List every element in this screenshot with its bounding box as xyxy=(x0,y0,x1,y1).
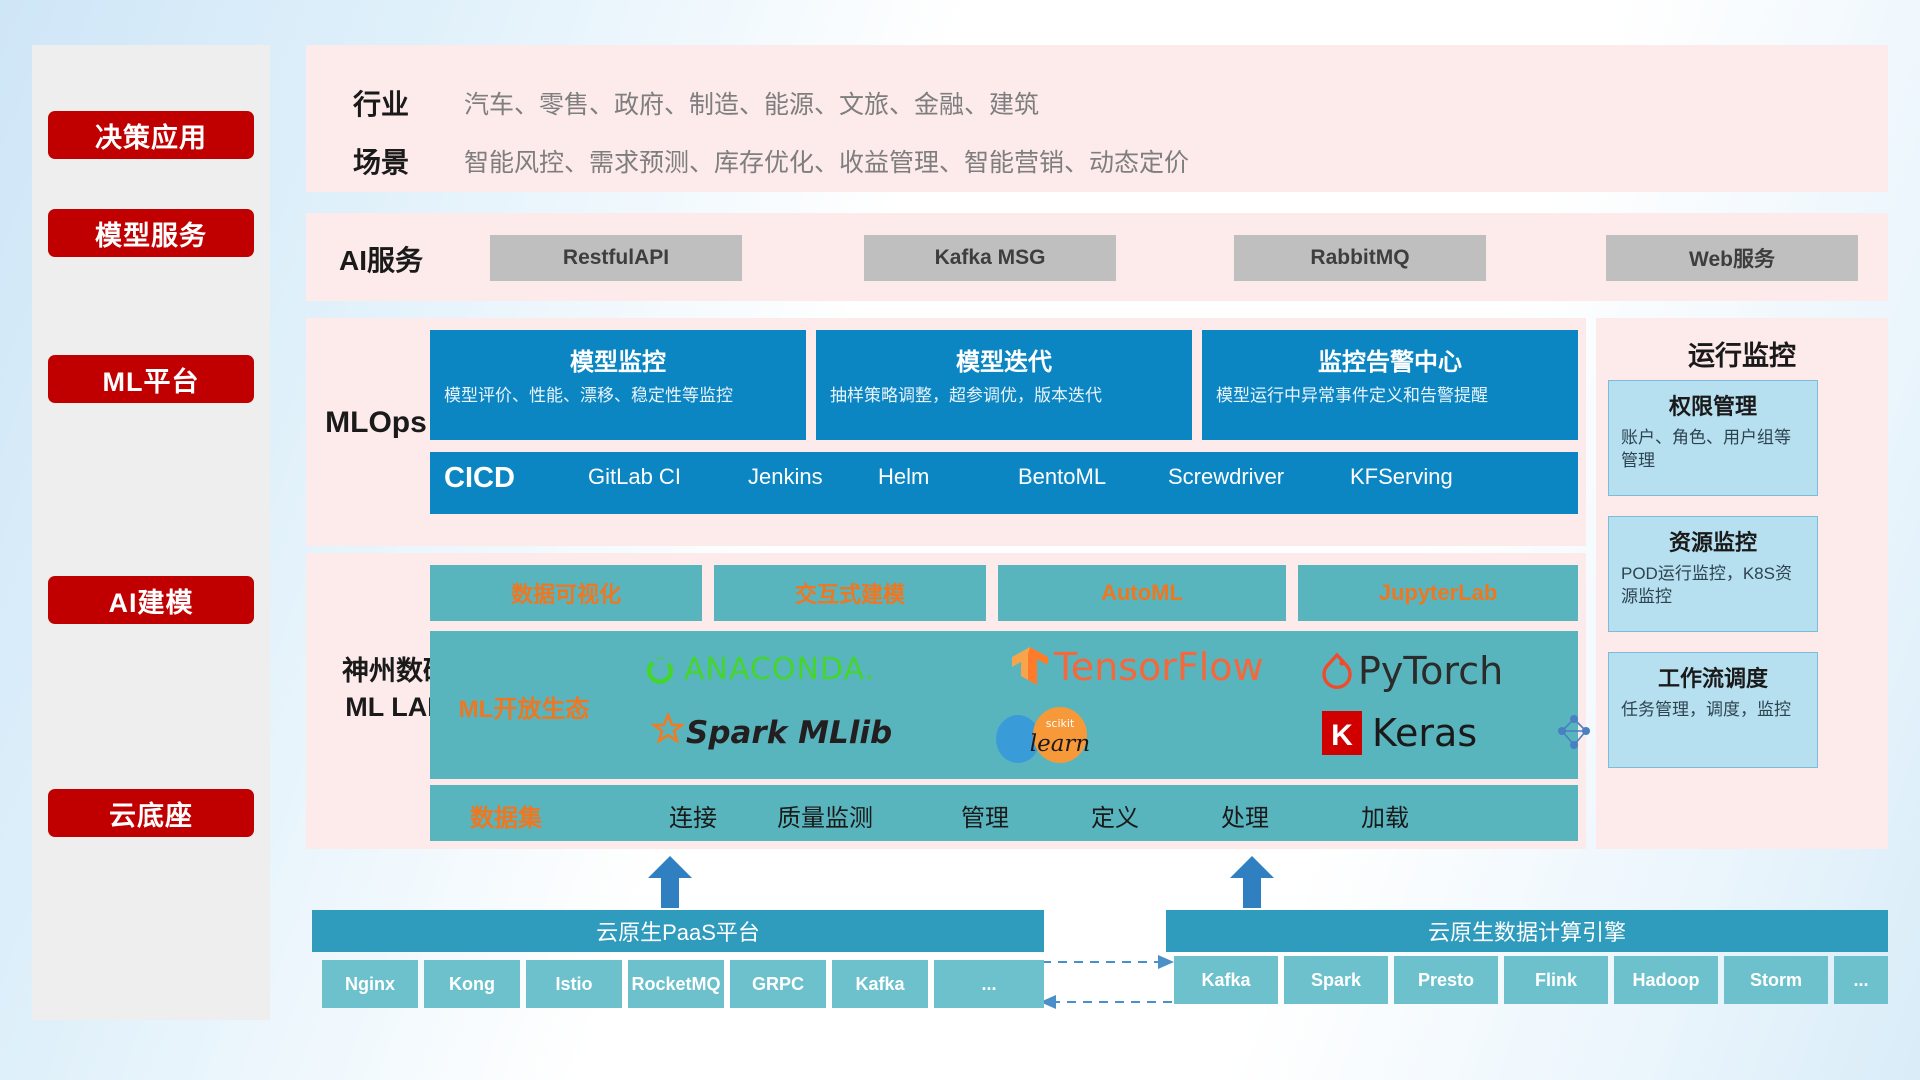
cloud-chip-label: Kafka xyxy=(855,974,904,995)
service-chip-kafka-msg[interactable]: Kafka MSG xyxy=(864,235,1116,281)
bidirectional-dashed-arrows-icon xyxy=(1040,950,1174,1014)
cloud-chip-more-left[interactable]: ... xyxy=(934,960,1044,1008)
decision-applications-band: 行业 汽车、零售、政府、制造、能源、文旅、金融、建筑 场景 智能风控、需求预测、… xyxy=(306,45,1888,192)
runtime-monitor-band: 运行监控 权限管理 账户、角色、用户组等管理 资源监控 POD运行监控，K8S资… xyxy=(1596,318,1888,849)
service-chip-restful-api[interactable]: RestfulAPI xyxy=(490,235,742,281)
cloud-chip-kong[interactable]: Kong xyxy=(424,960,520,1008)
cloud-chip-label: Hadoop xyxy=(1633,970,1700,991)
cloud-chip-label: Istio xyxy=(555,974,592,995)
svg-text:learn: learn xyxy=(1030,731,1091,757)
spark-mllib-logo: Spark MLlib xyxy=(646,713,892,753)
cloud-chip-nginx[interactable]: Nginx xyxy=(322,960,418,1008)
cloud-chip-label: ... xyxy=(981,974,996,995)
dataset-bar: 数据集 连接 质量监测 管理 定义 处理 加载 xyxy=(430,785,1578,841)
tensorflow-logo-text: TensorFlow xyxy=(1054,645,1264,689)
ai-service-band: AI服务 RestfulAPI Kafka MSG RabbitMQ Web服务 xyxy=(306,213,1888,301)
cicd-bar: CICD GitLab CI Jenkins Helm BentoML Scre… xyxy=(430,452,1578,514)
mlops-card-model-iteration[interactable]: 模型迭代 抽样策略调整，超参调优，版本迭代 xyxy=(816,330,1192,440)
layer-rail: 决策应用 模型服务 ML平台 AI建模 云底座 xyxy=(32,45,270,1020)
cloud-chip-label: Kafka xyxy=(1201,970,1250,991)
card-title: 监控告警中心 xyxy=(1216,342,1564,377)
cloud-chip-label: RocketMQ xyxy=(632,974,721,995)
pytorch-icon xyxy=(1320,652,1354,690)
dataset-item-quality[interactable]: 质量监测 xyxy=(770,798,880,833)
rail-item-model-service[interactable]: 模型服务 xyxy=(48,209,254,257)
scenario-key: 场景 xyxy=(316,141,446,181)
cicd-label: CICD xyxy=(444,462,515,495)
service-chip-rabbitmq[interactable]: RabbitMQ xyxy=(1234,235,1486,281)
tool-chip-label: 交互式建模 xyxy=(795,577,905,609)
card-title: 工作流调度 xyxy=(1621,661,1805,693)
cloud-chip-grpc[interactable]: GRPC xyxy=(730,960,826,1008)
rail-item-ai-modeling[interactable]: AI建模 xyxy=(48,576,254,624)
scikit-learn-logo: scikit learn xyxy=(990,707,1108,765)
cloud-data-engine-header[interactable]: 云原生数据计算引擎 xyxy=(1166,910,1888,952)
card-desc: 模型运行中异常事件定义和告警提醒 xyxy=(1216,385,1564,408)
architecture-diagram: 决策应用 模型服务 ML平台 AI建模 云底座 行业 汽车、零售、政府、制造、能… xyxy=(0,0,1920,1080)
service-chip-web-service[interactable]: Web服务 xyxy=(1606,235,1858,281)
anaconda-logo-text: ANACONDA. xyxy=(684,652,875,687)
cloud-chip-label: Storm xyxy=(1750,970,1802,991)
cloud-chip-label: Spark xyxy=(1311,970,1361,991)
tool-chip-label: 数据可视化 xyxy=(511,577,621,609)
cicd-item-kfserving[interactable]: KFServing xyxy=(1350,462,1470,492)
cloud-chip-rocketmq[interactable]: RocketMQ xyxy=(628,960,724,1008)
mlops-card-alert-center[interactable]: 监控告警中心 模型运行中异常事件定义和告警提醒 xyxy=(1202,330,1578,440)
dataset-item-load[interactable]: 加载 xyxy=(1330,798,1440,833)
up-arrow-icon-left xyxy=(648,856,692,908)
up-arrow-icon-right xyxy=(1230,856,1274,908)
cloud-chip-spark[interactable]: Spark xyxy=(1284,956,1388,1004)
rail-label: ML平台 xyxy=(103,360,200,399)
rail-item-decision-apps[interactable]: 决策应用 xyxy=(48,111,254,159)
rail-label: AI建模 xyxy=(109,581,194,620)
cloud-chip-istio[interactable]: Istio xyxy=(526,960,622,1008)
rail-label: 云底座 xyxy=(109,794,193,833)
tensorflow-icon xyxy=(1010,645,1050,689)
ml-open-ecosystem-key: ML开放生态 xyxy=(444,689,604,724)
card-title: 权限管理 xyxy=(1621,389,1805,421)
tool-chip-interactive-modeling[interactable]: 交互式建模 xyxy=(714,565,986,621)
tool-chip-automl[interactable]: AutoML xyxy=(998,565,1286,621)
mlops-key: MLOps xyxy=(316,406,436,440)
cloud-chip-label: Nginx xyxy=(345,974,395,995)
cloud-chip-label: Kong xyxy=(449,974,495,995)
industry-key: 行业 xyxy=(316,83,446,123)
cicd-item-helm[interactable]: Helm xyxy=(878,462,998,492)
cloud-chip-storm[interactable]: Storm xyxy=(1724,956,1828,1004)
card-desc: 账户、角色、用户组等管理 xyxy=(1621,427,1805,473)
cloud-paas-header[interactable]: 云原生PaaS平台 xyxy=(312,910,1044,952)
scenario-value: 智能风控、需求预测、库存优化、收益管理、智能营销、动态定价 xyxy=(464,143,1189,179)
cloud-paas-header-label: 云原生PaaS平台 xyxy=(596,915,760,947)
cloud-chip-label: Flink xyxy=(1535,970,1577,991)
anaconda-icon xyxy=(642,651,678,687)
card-title: 模型迭代 xyxy=(830,342,1178,377)
cloud-chip-label: Presto xyxy=(1418,970,1474,991)
pytorch-logo: PyTorch xyxy=(1320,649,1503,693)
svg-text:K: K xyxy=(1331,719,1353,752)
cloud-chip-label: GRPC xyxy=(752,974,804,995)
dataset-item-define[interactable]: 定义 xyxy=(1060,798,1170,833)
cloud-chip-label: ... xyxy=(1853,970,1868,991)
dataset-item-process[interactable]: 处理 xyxy=(1190,798,1300,833)
card-title: 模型监控 xyxy=(444,342,792,377)
ai-modeling-band: 神州数码 ML LAB 数据可视化 交互式建模 AutoML JupyterLa… xyxy=(306,553,1586,849)
ai-service-key: AI服务 xyxy=(316,239,446,279)
monitor-card-permission[interactable]: 权限管理 账户、角色、用户组等管理 xyxy=(1608,380,1818,496)
tool-chip-label: JupyterLab xyxy=(1379,580,1498,606)
service-chip-label: Kafka MSG xyxy=(935,246,1046,270)
cloud-chip-hadoop[interactable]: Hadoop xyxy=(1614,956,1718,1004)
cicd-item-jenkins[interactable]: Jenkins xyxy=(748,462,868,492)
cloud-chip-presto[interactable]: Presto xyxy=(1394,956,1498,1004)
cicd-item-screwdriver[interactable]: Screwdriver xyxy=(1168,462,1288,492)
monitor-card-workflow[interactable]: 工作流调度 任务管理，调度，监控 xyxy=(1608,652,1818,768)
service-chip-label: Web服务 xyxy=(1689,243,1775,273)
keras-logo-text: Keras xyxy=(1372,711,1477,755)
tool-chip-data-visualization[interactable]: 数据可视化 xyxy=(430,565,702,621)
dataset-item-manage[interactable]: 管理 xyxy=(930,798,1040,833)
cloud-chip-kafka-right[interactable]: Kafka xyxy=(1174,956,1278,1004)
cicd-item-bentoml[interactable]: BentoML xyxy=(1018,462,1138,492)
card-title: 资源监控 xyxy=(1621,525,1805,557)
rail-label: 模型服务 xyxy=(95,214,207,253)
anaconda-logo: ANACONDA. xyxy=(642,651,875,687)
cloud-chip-kafka[interactable]: Kafka xyxy=(832,960,928,1008)
mlops-band: MLOps 模型监控 模型评价、性能、漂移、稳定性等监控 模型迭代 抽样策略调整… xyxy=(306,318,1586,546)
tool-chip-label: AutoML xyxy=(1101,580,1183,606)
tool-chip-jupyterlab[interactable]: JupyterLab xyxy=(1298,565,1578,621)
rail-label: 决策应用 xyxy=(95,116,207,155)
cloud-chip-flink[interactable]: Flink xyxy=(1504,956,1608,1004)
tensorflow-logo: TensorFlow xyxy=(1010,645,1264,689)
runtime-monitor-title: 运行监控 xyxy=(1596,334,1888,373)
cloud-chip-more-right[interactable]: ... xyxy=(1834,956,1888,1004)
service-chip-label: RestfulAPI xyxy=(563,246,669,270)
networkx-icon xyxy=(1552,711,1596,755)
dataset-key: 数据集 xyxy=(470,798,542,833)
cicd-item-gitlab-ci[interactable]: GitLab CI xyxy=(588,462,708,492)
rail-item-cloud-base[interactable]: 云底座 xyxy=(48,789,254,837)
dataset-item-connect[interactable]: 连接 xyxy=(638,798,748,833)
mlops-card-model-monitoring[interactable]: 模型监控 模型评价、性能、漂移、稳定性等监控 xyxy=(430,330,806,440)
card-desc: 模型评价、性能、漂移、稳定性等监控 xyxy=(444,385,792,408)
rail-item-ml-platform[interactable]: ML平台 xyxy=(48,355,254,403)
spark-icon xyxy=(646,713,684,753)
monitor-card-resource[interactable]: 资源监控 POD运行监控，K8S资源监控 xyxy=(1608,516,1818,632)
service-chip-label: RabbitMQ xyxy=(1310,246,1409,270)
svg-text:scikit: scikit xyxy=(1046,717,1075,730)
card-desc: 抽样策略调整，超参调优，版本迭代 xyxy=(830,385,1178,408)
cloud-data-engine-header-label: 云原生数据计算引擎 xyxy=(1428,915,1626,947)
ml-open-ecosystem-panel: ML开放生态 ANACONDA. TensorFlow xyxy=(430,631,1578,779)
pytorch-logo-text: PyTorch xyxy=(1358,649,1503,693)
keras-logo: K Keras xyxy=(1320,709,1477,757)
spark-mllib-logo-text: Spark MLlib xyxy=(686,715,892,751)
scikit-learn-icon: scikit learn xyxy=(990,707,1108,765)
industry-value: 汽车、零售、政府、制造、能源、文旅、金融、建筑 xyxy=(464,85,1039,121)
card-desc: 任务管理，调度，监控 xyxy=(1621,699,1805,722)
keras-icon: K xyxy=(1320,709,1364,757)
card-desc: POD运行监控，K8S资源监控 xyxy=(1621,563,1805,609)
